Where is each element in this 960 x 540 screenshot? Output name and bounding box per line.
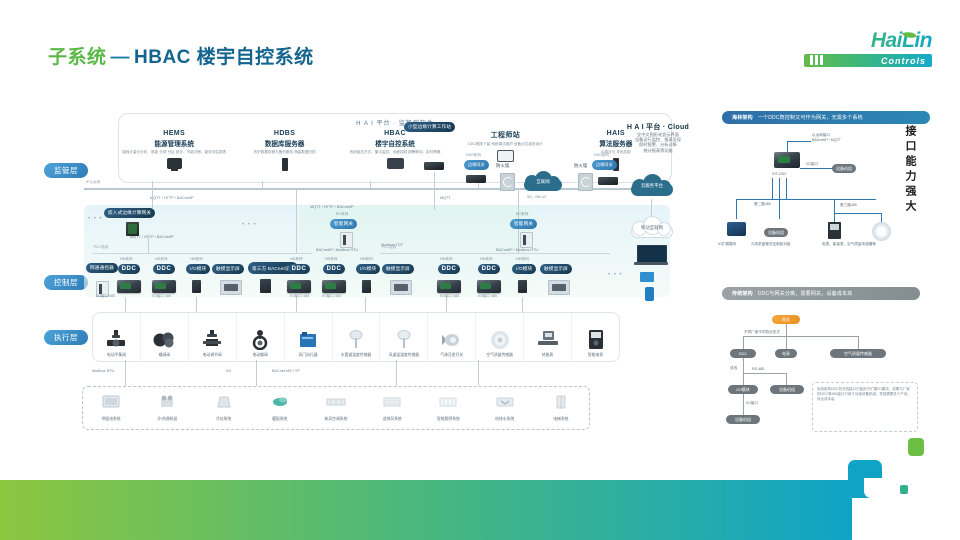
valve-icon bbox=[107, 329, 125, 351]
control-node-io-2[interactable]: I/O模块 bbox=[356, 264, 380, 274]
hailin-arch-title: 海林架构 bbox=[732, 114, 753, 121]
protocol-label-left: MQTT / HTTP / BACnetIP bbox=[150, 196, 194, 200]
system-item-label: 暖配系统 bbox=[252, 417, 308, 422]
exec-item-3[interactable]: 电动蝶阀 bbox=[237, 313, 285, 361]
edge-gateway-device-icon bbox=[466, 175, 486, 183]
internet-label: 互联网 bbox=[521, 179, 565, 185]
firewall-icon-right bbox=[578, 173, 593, 191]
hai-cloud-title: H A I 平台 · Cloud bbox=[606, 122, 710, 132]
ddc-tag-4: HD系列 bbox=[325, 257, 337, 262]
lighting-icon bbox=[437, 395, 459, 409]
connector bbox=[743, 336, 744, 350]
connector bbox=[786, 178, 787, 200]
firewall-icon-left bbox=[500, 173, 515, 191]
connector bbox=[522, 297, 523, 312]
pressure-switch-icon bbox=[442, 329, 462, 351]
brand-logo: HaiLin Controls bbox=[804, 30, 932, 76]
title-dash: — bbox=[107, 47, 135, 68]
gateway-node[interactable]: 网关 bbox=[772, 315, 800, 324]
footer-deco-shape-3 bbox=[900, 485, 908, 494]
phone-icon bbox=[645, 287, 654, 301]
bars-icon bbox=[810, 55, 823, 65]
hailin-arch-header: 海林架构 一个DDC既控制又可作为网关，无需多个系统 bbox=[722, 111, 930, 124]
layer-pill-execution: 执行层 bbox=[44, 330, 88, 345]
ddc-tag-3: HD系列 bbox=[290, 257, 302, 262]
io-port-label: I/O接口 bbox=[746, 401, 758, 406]
embedded-edge-gateway-badge[interactable]: 嵌入式边缘计算网关 bbox=[104, 208, 155, 218]
exec-item-0[interactable]: 电动平衡阀 bbox=[93, 313, 141, 361]
field-bus-label-5: I/O接口 485 bbox=[440, 294, 459, 299]
connector bbox=[396, 360, 397, 386]
vendor-protocol-note: 不同厂家不同协议形式 bbox=[744, 330, 780, 335]
cloud-platform-label: 云服务平台 bbox=[628, 183, 676, 189]
control-node-ddc-4[interactable]: DDC bbox=[323, 264, 345, 274]
ventilation-icon bbox=[381, 395, 403, 409]
io-device-icon-3 bbox=[518, 280, 527, 293]
io-tag-3: HM系列 bbox=[516, 257, 529, 262]
io-interface-label: I/O接口 bbox=[806, 162, 818, 167]
io-expander-device-icon bbox=[727, 222, 746, 236]
iot-ddc-device-icon bbox=[774, 152, 800, 168]
ddc-tag-5: HD系列 bbox=[440, 257, 452, 262]
connector bbox=[800, 168, 834, 169]
control-node-ddc-1[interactable]: DDC bbox=[118, 264, 140, 274]
logo-tagline: Controls bbox=[881, 56, 926, 66]
meter-device-icon bbox=[828, 222, 841, 239]
air-sensor-device-icon bbox=[872, 222, 891, 241]
cloud-platform: 云服务平台 bbox=[628, 173, 676, 197]
card-code: 工程师站 bbox=[450, 130, 560, 140]
connector bbox=[743, 336, 859, 337]
connector bbox=[296, 188, 297, 254]
io-device-icon-1 bbox=[192, 280, 201, 293]
field-bus-label-1: I/O接口 485 bbox=[96, 294, 115, 299]
hai-platform-header: H A I 平台 · 监管侧软件 bbox=[119, 118, 671, 127]
system-item-label: 新风空调系统 bbox=[308, 417, 364, 422]
protocol-label-mid: MQTT / HTTP / BACnetIP bbox=[310, 205, 354, 209]
edge-gateway-badge-2[interactable]: 边缘网关 bbox=[592, 160, 617, 170]
plc-bus-left bbox=[92, 253, 312, 254]
system-item-1[interactable]: 冷/热源机组 bbox=[139, 395, 195, 422]
edge-workstation-device-icon bbox=[424, 162, 444, 170]
smart-meter-icon bbox=[588, 329, 604, 351]
control-node-screen-3[interactable]: 触摸显示屏 bbox=[540, 264, 572, 274]
protocol-label-mqtt: MQTT bbox=[440, 196, 451, 200]
traditional-air-sensor-node[interactable]: 空气质量传感器 bbox=[830, 349, 886, 358]
logo-bar: Controls bbox=[804, 54, 932, 67]
damper-actuator-icon bbox=[298, 329, 318, 351]
exec-item-10[interactable]: 智能电表 bbox=[572, 313, 619, 361]
system-item-label: 智能照明系统 bbox=[420, 417, 476, 422]
laptop-icon bbox=[634, 245, 668, 265]
traditional-meter-node[interactable]: 电表 bbox=[775, 349, 797, 358]
ec-gateway-badge-left[interactable]: 智能网关 bbox=[330, 219, 357, 229]
traditional-arch-desc: DDC与网关分离，需要网关，设备成本高 bbox=[758, 290, 853, 297]
ddc-tag-2: HD系列 bbox=[155, 257, 167, 262]
monitor-device-icon bbox=[167, 158, 182, 169]
connector bbox=[779, 178, 780, 200]
ddc-device-icon-4 bbox=[322, 280, 346, 293]
connector bbox=[834, 213, 882, 214]
connector bbox=[858, 336, 859, 350]
connector bbox=[262, 181, 263, 188]
system-item-label: 冷站系统 bbox=[195, 417, 251, 422]
fan-coil-label: 与风机盘管关控制柜对接 bbox=[751, 242, 791, 247]
supervision-card-hdbs[interactable]: HDBS 数据库服务器 历史数据存储与备份服务 海量数据归档 bbox=[229, 130, 339, 171]
field-bus-label-6: I/O接口 485 bbox=[478, 294, 497, 299]
air-quality-sensor-icon bbox=[490, 329, 510, 351]
field-bus-label-4: I/O接口 485 bbox=[322, 294, 341, 299]
meter-sensor-label: 电表、能量表、空气质量传感器等 bbox=[822, 242, 876, 247]
exec-item-label: 电动蝶阀 bbox=[253, 353, 268, 358]
connector bbox=[434, 172, 435, 188]
system-item-5[interactable]: 送排风系统 bbox=[364, 395, 420, 422]
system-item-3[interactable]: 暖配系统 bbox=[252, 395, 308, 422]
layer-pill-control: 控制层 bbox=[44, 275, 88, 290]
ellipsis-right: • • • bbox=[608, 272, 623, 278]
footer-deco-shape-1b bbox=[864, 478, 882, 498]
traditional-device-b-node[interactable]: 设备机组 bbox=[726, 415, 760, 424]
edge-gateway-tag: HXG系列 bbox=[466, 153, 481, 158]
exec-item-4[interactable]: 风门执行器 bbox=[285, 313, 333, 361]
system-item-label: 送排风系统 bbox=[364, 417, 420, 422]
title-green: 子系统 bbox=[48, 47, 107, 68]
motor-valve-icon bbox=[251, 329, 269, 351]
control-node-ddc-2[interactable]: DDC bbox=[153, 264, 175, 274]
connector bbox=[736, 199, 737, 219]
pad-device-icon bbox=[497, 150, 514, 162]
card-name: 数据库服务器 bbox=[229, 138, 339, 148]
firewall-label-left: 防火墙 bbox=[496, 163, 509, 169]
chiller-unit-icon bbox=[157, 395, 177, 409]
io-tag-2: HM系列 bbox=[360, 257, 373, 262]
exec-item-7[interactable]: 气体压差开关 bbox=[428, 313, 476, 361]
connector bbox=[434, 188, 435, 210]
ddc-tag-6: HD系列 bbox=[480, 257, 492, 262]
water-supply-icon bbox=[494, 395, 516, 409]
heating-icon bbox=[270, 395, 290, 409]
exec-item-6[interactable]: 风道温湿度传感器 bbox=[380, 313, 428, 361]
card-desc: 系统组态方式、集中监控、远程控制 报警联动、定时策略 bbox=[340, 150, 450, 155]
exec-bus-label-1: I/O bbox=[226, 369, 231, 373]
connector bbox=[152, 188, 153, 208]
exec-bus-label-2: BACnet MS / TP bbox=[272, 369, 300, 373]
execution-device-panel: 电动平衡阀 蝶阀阀 电动调节阀 电动蝶阀 风门执行器 bbox=[92, 312, 620, 362]
card-code: HEMS bbox=[119, 130, 229, 137]
connector bbox=[743, 394, 744, 416]
exec-item-label: 气体压差开关 bbox=[440, 353, 463, 358]
page-title: 子系统—HBAC 楼宇自控系统 bbox=[48, 42, 314, 69]
touch-screen-icon-3 bbox=[548, 280, 570, 295]
control-node-gateway-badge[interactable]: 网通通控器 bbox=[86, 263, 118, 273]
system-item-0[interactable]: 供配电系统 bbox=[83, 395, 139, 422]
card-desc: 能耗计量与分析、用能·分项·分区 统计、节能诊断、能效评估报表 bbox=[119, 150, 229, 155]
traditional-arch-title: 传统架构 bbox=[732, 290, 753, 297]
control-node-io-3[interactable]: I/O模块 bbox=[512, 264, 536, 274]
heat-meter-icon bbox=[538, 329, 558, 351]
connector bbox=[772, 178, 773, 200]
device-group-badge-mid[interactable]: 设备机组 bbox=[764, 228, 788, 237]
ellipsis-mid: • • • bbox=[242, 222, 257, 228]
system-item-7[interactable]: 给排水系统 bbox=[477, 395, 533, 422]
io-bus-label: 总线 bbox=[730, 366, 737, 371]
traditional-device-a-node[interactable]: 设备机组 bbox=[770, 385, 804, 394]
ddc-device-icon-1 bbox=[117, 280, 141, 293]
hailin-arch-desc: 一个DDC既控制又可作为网关，无需多个系统 bbox=[758, 114, 863, 121]
exec-item-9[interactable]: 热能表 bbox=[524, 313, 572, 361]
field-bus-label-3: I/O接口 485 bbox=[290, 294, 309, 299]
slide-root: 子系统—HBAC 楼宇自控系统 HaiLin Controls 监管层 控制层 … bbox=[0, 0, 960, 540]
plc-bus-tag-right: PLC总线 bbox=[382, 245, 396, 250]
exec-item-label: 风门执行器 bbox=[299, 353, 318, 358]
exec-item-8[interactable]: 空气质量传感器 bbox=[476, 313, 524, 361]
eth-interface-label: 以太网接口 BACnetIP / MQTT bbox=[812, 133, 841, 142]
embedded-gateway-device-icon bbox=[126, 222, 139, 236]
traditional-ddc-node[interactable]: DDC bbox=[730, 349, 756, 358]
ec-gateway-device-right-icon bbox=[520, 232, 533, 248]
ec-protocol-right: BACnetIP / Modbus RTU bbox=[496, 248, 538, 252]
exec-item-label: 电动调节阀 bbox=[203, 353, 222, 358]
connector bbox=[786, 324, 787, 336]
ddc-device-icon-6 bbox=[477, 280, 501, 293]
server-device-icon bbox=[282, 158, 288, 171]
system-item-label: 供配电系统 bbox=[83, 417, 139, 422]
connector bbox=[125, 360, 126, 386]
bus-tag-left: IP以太网 bbox=[86, 180, 100, 185]
system-item-8[interactable]: 电梯系统 bbox=[533, 395, 589, 422]
supervision-card-hems[interactable]: HEMS 能源管理系统 能耗计量与分析、用能·分项·分区 统计、节能诊断、能效评… bbox=[119, 130, 229, 171]
ec-gateway-badge-right[interactable]: 智能网关 bbox=[510, 219, 537, 229]
ddc-device-icon-2 bbox=[152, 280, 176, 293]
exec-item-label: 空气质量传感器 bbox=[486, 353, 513, 358]
hai-cloud-line: 统计报表等功能 bbox=[606, 148, 710, 153]
building-systems-panel: 供配电系统 冷/热源机组 冷站系统 暖配系统 新风空调系统 送排风系统 智能照明… bbox=[82, 386, 590, 430]
connector bbox=[736, 199, 876, 200]
exec-item-label: 蝶阀阀 bbox=[159, 353, 170, 358]
pipe-temp-sensor-icon bbox=[348, 329, 364, 351]
traditional-arch-note: 传统架构DDC的总线接口只能用于扩展I/O模块，或需与厂家的DDC等485接口只… bbox=[812, 382, 918, 432]
exec-item-1[interactable]: 蝶阀阀 bbox=[141, 313, 189, 361]
touch-screen-icon-1 bbox=[220, 280, 242, 295]
rs485-label-2: 第二路485 bbox=[754, 202, 771, 207]
io-tag-1: HM系列 bbox=[190, 257, 203, 262]
connector bbox=[446, 297, 447, 312]
card-desc: 历史数据存储与备份服务 海量数据归档 bbox=[229, 150, 339, 155]
fresh-air-icon bbox=[325, 395, 347, 409]
device-group-badge-top[interactable]: 设备机组 bbox=[832, 164, 856, 173]
connector bbox=[256, 360, 257, 386]
edge-workstation-badge[interactable]: 小型边缘计算工作站 bbox=[404, 122, 455, 132]
control-node-ddc-5[interactable]: DDC bbox=[438, 264, 460, 274]
connector bbox=[365, 297, 366, 312]
connector bbox=[779, 199, 780, 219]
traditional-arch-header: 传统架构 DDC与网关分离，需要网关，设备成本高 bbox=[722, 287, 920, 300]
control-valve-icon bbox=[203, 329, 221, 351]
exec-item-label: 电动平衡阀 bbox=[107, 353, 126, 358]
layer-pill-supervision: 监管层 bbox=[44, 163, 88, 178]
card-desc: DDC程序下装 系统调试维护 设备点位组态设计 bbox=[450, 142, 560, 147]
ddc-tag-1: HD系列 bbox=[120, 257, 132, 262]
ddc-device-icon-5 bbox=[437, 280, 461, 293]
plc-bus-tag-left: PLC总线 bbox=[94, 245, 108, 250]
internet-cloud: 互联网 bbox=[521, 170, 565, 192]
power-supply-icon bbox=[101, 395, 121, 409]
rs485-label-trad: RS-485 bbox=[752, 367, 764, 371]
hbac-device-icon bbox=[387, 158, 404, 169]
system-item-4[interactable]: 新风空调系统 bbox=[308, 395, 364, 422]
control-node-screen-1[interactable]: 触摸显示屏 bbox=[212, 264, 244, 274]
ec-series-tag-right: EC系列 bbox=[516, 212, 528, 217]
system-item-label: 给排水系统 bbox=[477, 417, 533, 422]
system-item-2[interactable]: 冷站系统 bbox=[195, 395, 251, 422]
control-node-screen-2[interactable]: 触摸显示屏 bbox=[382, 264, 414, 274]
exec-item-label: 智能电表 bbox=[588, 353, 603, 358]
field-bus-label-2: I/O接口 485 bbox=[152, 294, 171, 299]
io-expander-label: IO扩展模块 bbox=[718, 242, 736, 247]
exec-item-5[interactable]: 水管道温度传感器 bbox=[333, 313, 381, 361]
connector bbox=[152, 181, 153, 188]
exec-item-label: 热能表 bbox=[542, 353, 553, 358]
connector bbox=[148, 236, 149, 254]
butterfly-valve-icon bbox=[153, 329, 175, 351]
vertical-highlight-text: 接口能力强大 bbox=[902, 125, 918, 215]
tablet-icon bbox=[640, 272, 654, 282]
card-name: 楼宇自控系统 bbox=[340, 138, 450, 148]
system-item-label: 电梯系统 bbox=[533, 417, 589, 422]
exec-item-label: 水管道温度传感器 bbox=[341, 353, 371, 358]
footer-deco-shape-2 bbox=[908, 438, 924, 456]
connector bbox=[296, 297, 297, 312]
iot-ddc-label: IOT-DDC bbox=[772, 172, 787, 176]
control-node-ddc-6[interactable]: DDC bbox=[478, 264, 500, 274]
mobile-internet-label: 移动互联网 bbox=[628, 225, 676, 231]
connector bbox=[834, 199, 835, 213]
connector bbox=[743, 373, 787, 374]
card-code: HDBS bbox=[229, 130, 339, 137]
touch-screen-icon-2 bbox=[390, 280, 412, 295]
exec-item-2[interactable]: 电动调节阀 bbox=[189, 313, 237, 361]
elevator-icon bbox=[553, 395, 569, 409]
footer-bar bbox=[0, 480, 852, 540]
system-item-label: 冷/热源机组 bbox=[139, 417, 195, 422]
control-node-io-1[interactable]: I/O模块 bbox=[186, 264, 210, 274]
firewall-label-right: 防火墙 bbox=[574, 163, 587, 169]
connector bbox=[196, 297, 197, 312]
exec-bus-label-0: Modbus RTU bbox=[92, 369, 114, 373]
io-device-icon-2 bbox=[362, 280, 371, 293]
hai-cloud-block: H A I 平台 · Cloud 全中文图形化显示界面 设备运行监控、报表呈现 … bbox=[606, 122, 710, 153]
system-item-6[interactable]: 智能照明系统 bbox=[420, 395, 476, 422]
edge-gateway-badge[interactable]: 边缘网关 bbox=[464, 160, 489, 170]
mobile-internet-cloud: 移动互联网 bbox=[628, 215, 676, 239]
connector bbox=[743, 358, 744, 386]
router-device-icon bbox=[598, 177, 618, 185]
card-name: 能源管理系统 bbox=[119, 138, 229, 148]
title-blue: HBAC 楼宇自控系统 bbox=[134, 47, 314, 68]
ellipsis-left: • • • bbox=[88, 216, 103, 222]
connector bbox=[787, 141, 811, 142]
internet-sub-label: 5G、NB-IoT bbox=[527, 195, 547, 200]
ec-protocol-left: BACnetIP / Modbus RTU bbox=[316, 248, 358, 252]
traditional-io-module-node[interactable]: I/O模块 bbox=[728, 385, 758, 394]
duct-temp-sensor-icon bbox=[396, 329, 412, 351]
ec-gateway-device-left-icon bbox=[340, 232, 353, 248]
connector bbox=[125, 297, 126, 312]
connector bbox=[478, 360, 479, 386]
control-node-ddc-3[interactable]: DDC bbox=[288, 264, 310, 274]
third-party-device-icon bbox=[260, 279, 271, 293]
rs485-label-3: 第三路485 bbox=[840, 203, 857, 208]
exec-item-label: 风道温湿度传感器 bbox=[389, 353, 419, 358]
cooling-station-icon bbox=[214, 395, 234, 409]
connector bbox=[370, 181, 371, 188]
plc-bus-right bbox=[380, 253, 610, 254]
connector bbox=[786, 336, 787, 350]
ddc-device-icon-3 bbox=[287, 280, 311, 293]
edge-gateway-tag-2: HXG系列 bbox=[594, 153, 609, 158]
ec-series-tag-left: EC系列 bbox=[336, 212, 348, 217]
